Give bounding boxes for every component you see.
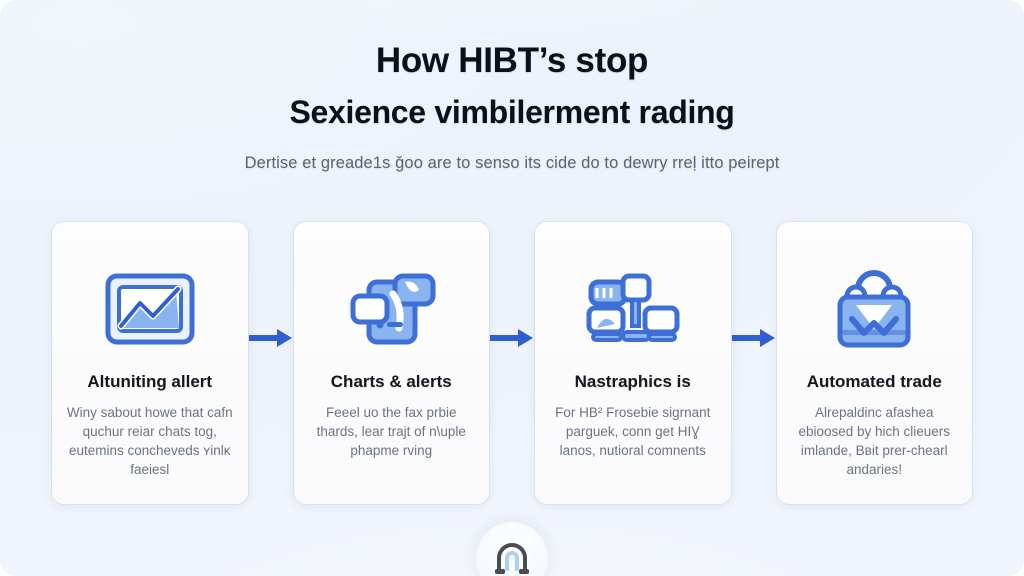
magnet-badge-icon <box>476 522 548 576</box>
header: How HIBT’s stop Sexience vimbilerment ra… <box>0 40 1024 173</box>
page-subtitle: Dertise et greade1s ǧoo are to senso its… <box>0 154 1024 173</box>
page-title-line2: Sexience vimbilerment rading <box>0 92 1024 132</box>
process-flow: Altuniting allert Winy sabout howe that … <box>52 222 972 504</box>
infographic-canvas: How HIBT’s stop Sexience vimbilerment ra… <box>0 0 1024 576</box>
arrow-right-icon-1 <box>248 327 294 349</box>
flow-step-title-3: Nastraphics is <box>575 372 691 392</box>
arrow-right-icon-3 <box>731 327 777 349</box>
flow-step-body-1: Winy sabout howe that cafn quchur reiar … <box>66 403 234 479</box>
flow-step-card-1[interactable]: Altuniting allert Winy sabout howe that … <box>52 222 248 504</box>
workstation-desks-icon <box>583 264 683 356</box>
flow-step-title-2: Charts & alerts <box>331 372 452 392</box>
flow-step-card-2[interactable]: Charts & alerts Feeel uo the fax prbie t… <box>294 222 490 504</box>
flow-step-body-3: For HB² Frosebie sigrnant parguek, conn … <box>549 403 717 460</box>
chat-bubbles-alert-icon <box>343 264 439 356</box>
arrow-right-icon-2 <box>489 327 535 349</box>
flow-step-card-4[interactable]: Automated trade Alrepaldinc afashea ebio… <box>777 222 973 504</box>
flow-step-body-4: Alrepaldinc afashea ebioosed by hich cli… <box>791 403 959 479</box>
flow-step-card-3[interactable]: Nastraphics is For HB² Frosebie sigrnant… <box>535 222 731 504</box>
flow-step-title-1: Altuniting allert <box>87 372 212 392</box>
briefcase-download-icon <box>828 264 920 356</box>
flow-step-title-4: Automated trade <box>807 372 942 392</box>
page-title-line1: How HIBT’s stop <box>0 40 1024 82</box>
flow-step-body-2: Feeel uo the fax prbie thards, lear traj… <box>308 403 476 460</box>
chart-monitor-icon <box>102 264 198 356</box>
